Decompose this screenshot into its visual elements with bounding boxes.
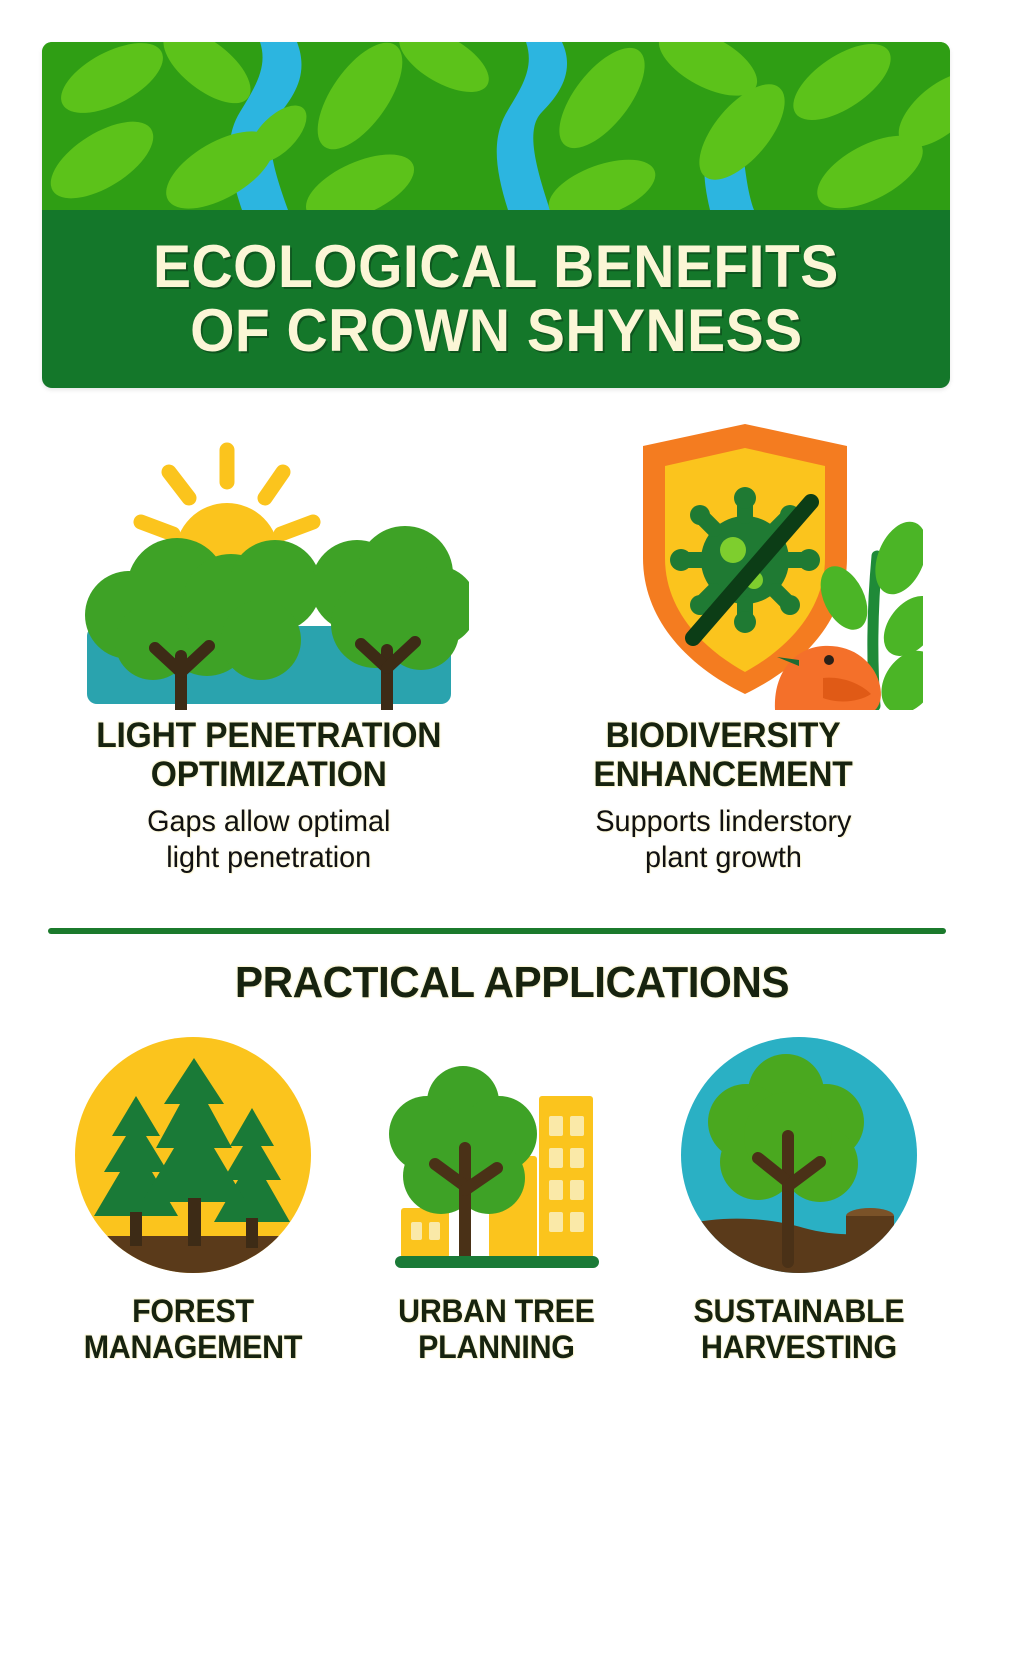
benefits-row: LIGHT PENETRATION OPTIMIZATION Gaps allo… (42, 410, 950, 920)
applications-section-title: PRACTICAL APPLICATIONS (20, 958, 1003, 1008)
benefit-card-light-penetration: LIGHT PENETRATION OPTIMIZATION Gaps allo… (42, 410, 496, 920)
benefit-title-line-2: OPTIMIZATION (96, 755, 441, 794)
infographic-poster: ECOLOGICAL BENEFITS OF CROWN SHYNESS (0, 0, 1024, 1666)
application-title-line-2: HARVESTING (693, 1330, 904, 1366)
page-title-line-2: OF CROWN SHYNESS (190, 299, 802, 363)
benefit-title: LIGHT PENETRATION OPTIMIZATION (96, 716, 441, 794)
benefit-subtitle: Gaps allow optimal light penetration (147, 804, 390, 875)
benefit-title-line-1: LIGHT PENETRATION (96, 716, 441, 755)
conifer-forest-circle-icon (68, 1030, 318, 1280)
benefit-sub-line-2: light penetration (147, 840, 390, 875)
section-divider (48, 928, 946, 934)
application-title-line-2: PLANNING (398, 1330, 594, 1366)
header-card: ECOLOGICAL BENEFITS OF CROWN SHYNESS (42, 42, 950, 388)
application-title: URBAN TREE PLANNING (398, 1294, 594, 1366)
benefit-sub-line-2: plant growth (595, 840, 851, 875)
benefit-title: BIODIVERSITY ENHANCEMENT (593, 716, 852, 794)
application-title-line-1: SUSTAINABLE (693, 1294, 904, 1330)
application-card-forest-management: FOREST MANAGEMENT (43, 1030, 343, 1390)
application-card-urban-tree-planning: URBAN TREE PLANNING (346, 1030, 646, 1390)
benefit-card-biodiversity: BIODIVERSITY ENHANCEMENT Supports linder… (496, 410, 950, 920)
benefit-subtitle: Supports linderstory plant growth (595, 804, 851, 875)
benefit-title-line-2: ENHANCEMENT (593, 755, 852, 794)
benefit-sub-line-1: Gaps allow optimal (147, 804, 390, 839)
application-title-line-2: MANAGEMENT (84, 1330, 302, 1366)
page-title-line-1: ECOLOGICAL BENEFITS (153, 235, 839, 299)
benefit-title-line-1: BIODIVERSITY (593, 716, 852, 755)
application-title-line-1: URBAN TREE (398, 1294, 594, 1330)
leaf-pattern-icon (42, 42, 950, 210)
sun-over-trees-icon (69, 410, 469, 710)
tree-and-buildings-icon (371, 1030, 621, 1280)
poster-title: ECOLOGICAL BENEFITS OF CROWN SHYNESS (42, 210, 950, 388)
applications-row: FOREST MANAGEMENT (42, 1030, 950, 1390)
application-card-sustainable-harvesting: SUSTAINABLE HARVESTING (649, 1030, 949, 1390)
tree-and-stump-circle-icon (674, 1030, 924, 1280)
application-title: FOREST MANAGEMENT (84, 1294, 302, 1366)
shield-pathogen-bird-plant-icon (523, 410, 923, 710)
application-title-line-1: FOREST (84, 1294, 302, 1330)
application-title: SUSTAINABLE HARVESTING (693, 1294, 904, 1366)
benefit-sub-line-1: Supports linderstory (595, 804, 851, 839)
